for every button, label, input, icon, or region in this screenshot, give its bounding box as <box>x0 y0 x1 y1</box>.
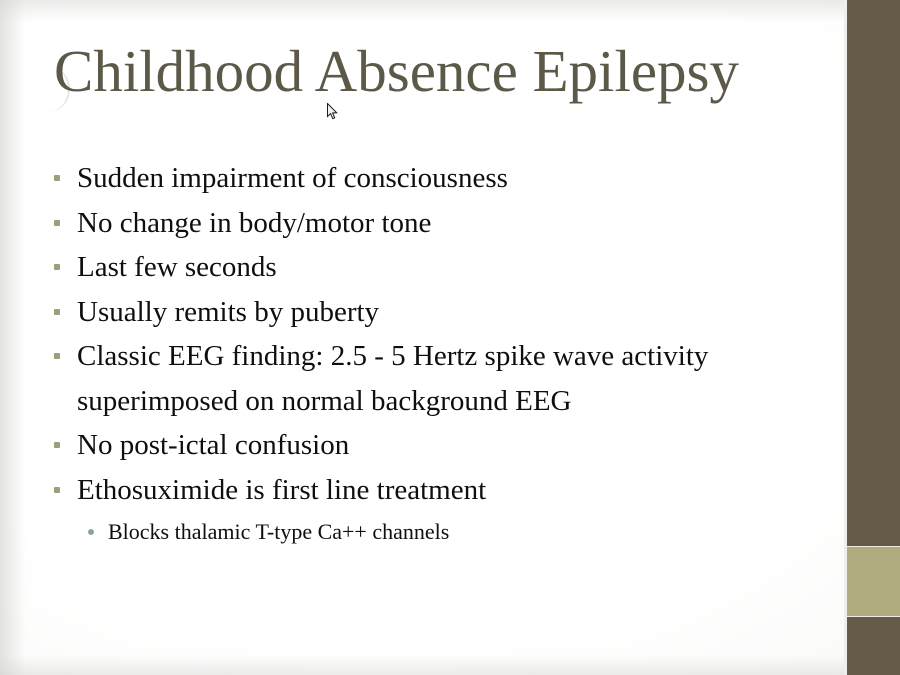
bullet-text: No post-ictal confusion <box>77 423 814 468</box>
decorative-sidebar <box>847 0 900 675</box>
bullet-text: Classic EEG finding: 2.5 - 5 Hertz spike… <box>77 334 814 423</box>
bullet-text: Usually remits by puberty <box>77 290 814 335</box>
bullet-text: Sudden impairment of consciousness <box>77 156 814 201</box>
bullet-text: Ethosuximide is first line treatment <box>77 468 814 513</box>
bullet-text: No change in body/motor tone <box>77 201 814 246</box>
sidebar-band-top <box>847 0 900 546</box>
sidebar-band-middle <box>847 547 900 616</box>
bullet-dot-icon <box>54 309 60 315</box>
sub-bullet-item: Blocks thalamic T-type Ca++ channels <box>54 512 814 552</box>
sub-bullet-dot-icon <box>88 529 94 535</box>
bullet-item: Classic EEG finding: 2.5 - 5 Hertz spike… <box>54 334 814 423</box>
bullet-dot-icon <box>54 442 60 448</box>
bullet-dot-icon <box>54 487 60 493</box>
bullet-item: Sudden impairment of consciousness <box>54 156 814 201</box>
bullet-dot-icon <box>54 175 60 181</box>
bullet-item: Last few seconds <box>54 245 814 290</box>
slide-canvas: Childhood Absence Epilepsy Sudden impair… <box>0 0 900 675</box>
sub-bullet-text: Blocks thalamic T-type Ca++ channels <box>108 512 814 552</box>
sidebar-band-bottom <box>847 617 900 675</box>
slide-title: Childhood Absence Epilepsy <box>54 42 739 101</box>
bullet-text: Last few seconds <box>77 245 814 290</box>
bullet-list: Sudden impairment of consciousness No ch… <box>54 156 814 552</box>
bullet-dot-icon <box>54 220 60 226</box>
bullet-dot-icon <box>54 264 60 270</box>
bullet-item: Usually remits by puberty <box>54 290 814 335</box>
bullet-item: Ethosuximide is first line treatment <box>54 468 814 513</box>
bullet-item: No change in body/motor tone <box>54 201 814 246</box>
bullet-item: No post-ictal confusion <box>54 423 814 468</box>
bullet-dot-icon <box>54 353 60 359</box>
